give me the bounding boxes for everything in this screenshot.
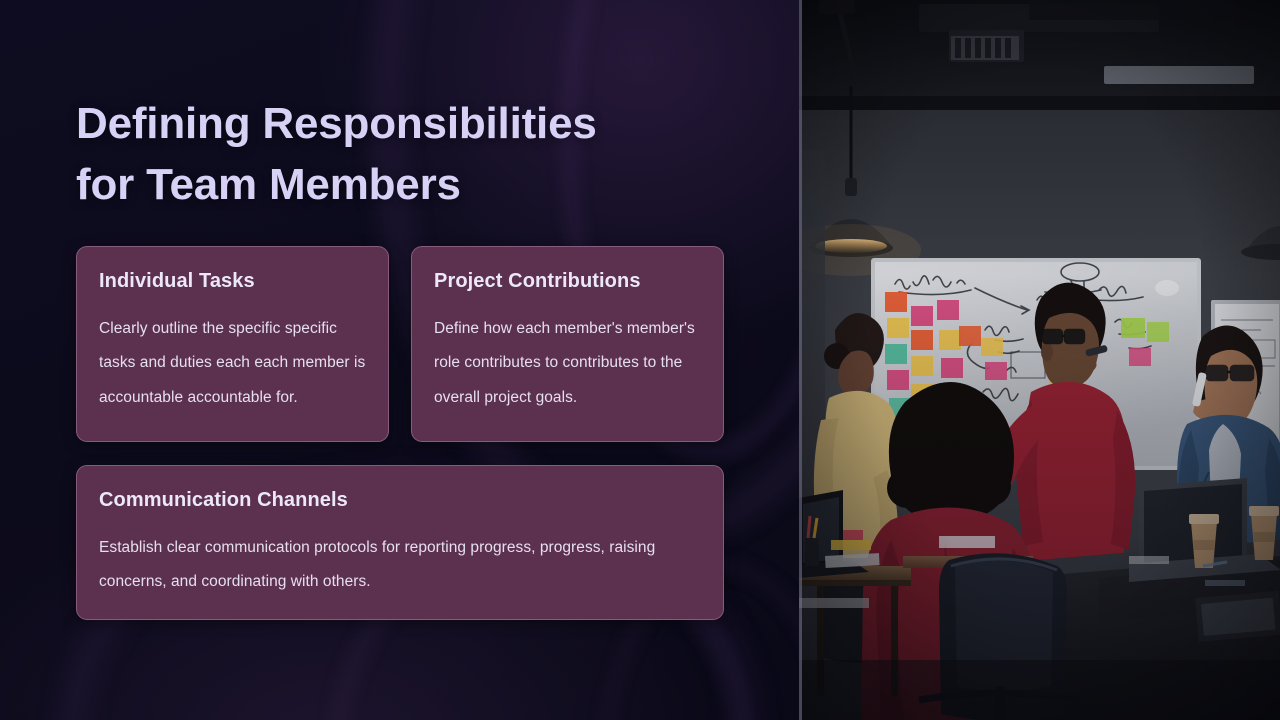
slide-title: Defining Responsibilities for Team Membe…	[76, 93, 736, 215]
cards-container: Individual Tasks Clearly outline the spe…	[76, 246, 724, 620]
card-title: Individual Tasks	[99, 269, 366, 293]
card-body: Establish clear communication protocols …	[99, 531, 701, 600]
photo-illustration	[799, 0, 1280, 720]
team-collaboration-photo	[799, 0, 1280, 720]
card-body: Define how each member's member's role c…	[434, 312, 701, 415]
panel-divider	[799, 0, 802, 720]
card-communication-channels[interactable]: Communication Channels Establish clear c…	[76, 465, 724, 620]
cards-row-top: Individual Tasks Clearly outline the spe…	[76, 246, 724, 442]
card-title: Project Contributions	[434, 269, 701, 293]
card-project-contributions[interactable]: Project Contributions Define how each me…	[411, 246, 724, 442]
slide: Defining Responsibilities for Team Membe…	[0, 0, 1280, 720]
card-individual-tasks[interactable]: Individual Tasks Clearly outline the spe…	[76, 246, 389, 442]
card-title: Communication Channels	[99, 488, 701, 512]
card-body: Clearly outline the specific specific ta…	[99, 312, 366, 415]
